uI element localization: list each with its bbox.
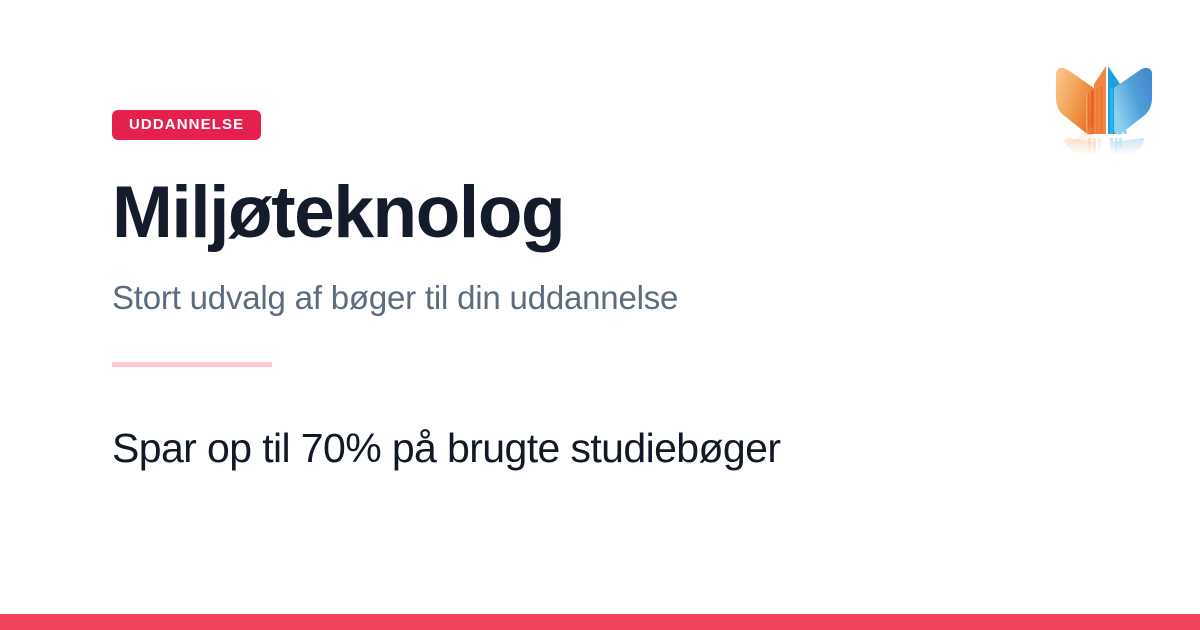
og-banner-card: UDDANNELSE Miljøteknolog Stort udvalg af… [0, 0, 1200, 630]
open-book-logo-icon [1050, 48, 1158, 160]
promo-tagline: Spar op til 70% på brugte studiebøger [112, 425, 1052, 472]
category-badge[interactable]: UDDANNELSE [112, 110, 261, 140]
bottom-accent-bar [0, 614, 1200, 630]
content-column: UDDANNELSE Miljøteknolog Stort udvalg af… [112, 110, 1052, 472]
accent-divider [112, 362, 272, 367]
logo-right-page [1114, 68, 1152, 135]
brand-logo[interactable] [1050, 48, 1158, 160]
page-subtitle: Stort udvalg af bøger til din uddannelse [112, 278, 1052, 318]
logo-center-left-page [1094, 66, 1106, 134]
page-title: Miljøteknolog [112, 176, 1052, 250]
